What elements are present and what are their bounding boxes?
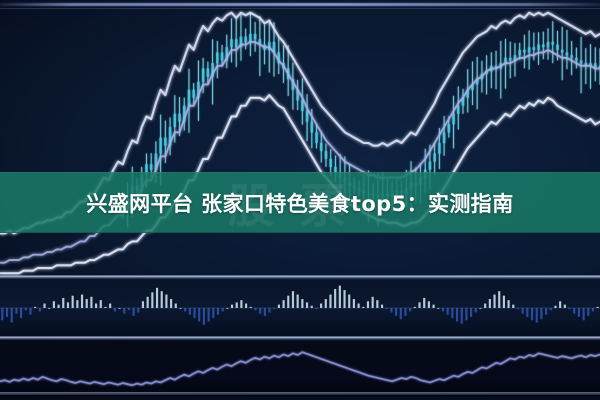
panel-divider-2 (0, 336, 600, 340)
panel-divider-3 (0, 392, 600, 395)
top-secondary-rule (0, 8, 600, 9)
price-panel-canvas (0, 10, 600, 276)
title-overlay-band: 股票 兴盛网平台 张家口特色美食top5：实测指南 (0, 172, 600, 233)
histogram-panel-canvas (0, 280, 600, 336)
panel-divider-1 (0, 275, 600, 279)
macd-histogram-panel (0, 280, 600, 336)
price-panel (0, 10, 600, 276)
oscillator-panel-canvas (0, 341, 600, 397)
banner-title: 兴盛网平台 张家口特色美食top5：实测指南 (86, 188, 513, 218)
oscillator-panel (0, 341, 600, 397)
top-highlight-rule (0, 3, 600, 6)
stock-chart-banner: 股票 兴盛网平台 张家口特色美食top5：实测指南 (0, 0, 600, 400)
